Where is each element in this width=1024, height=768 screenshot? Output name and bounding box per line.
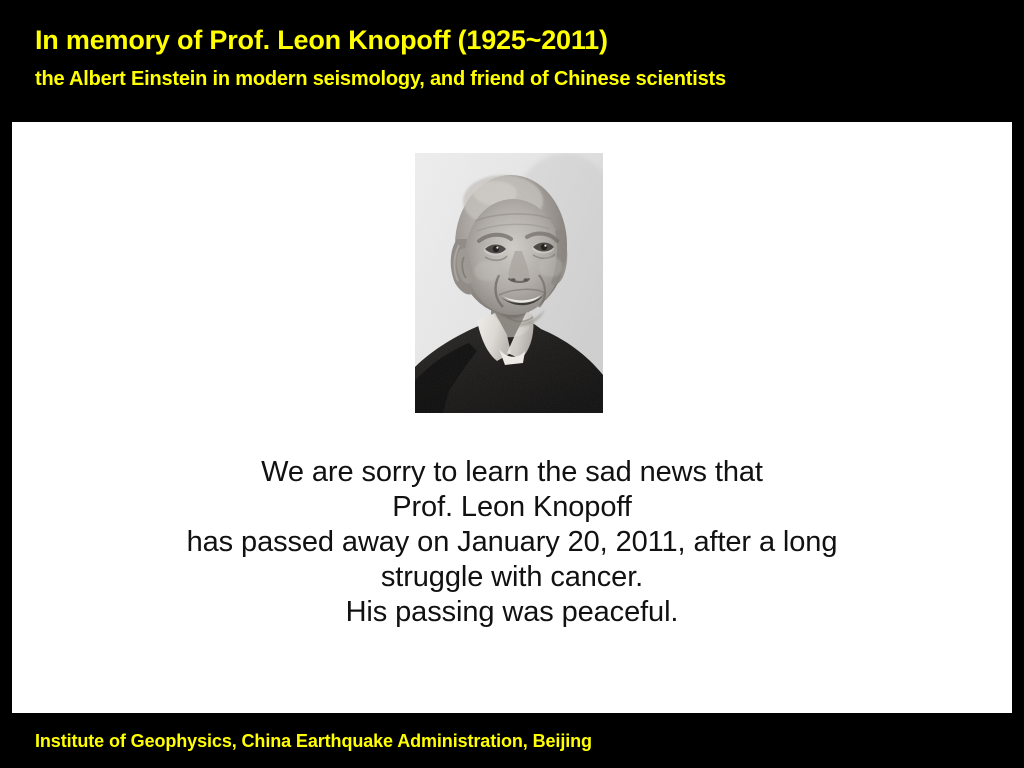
slide-footer: Institute of Geophysics, China Earthquak… [0,713,1024,768]
page-title: In memory of Prof. Leon Knopoff (1925~20… [35,25,608,56]
memorial-message: We are sorry to learn the sad news that … [0,455,1024,630]
affiliation-label: Institute of Geophysics, China Earthquak… [35,730,592,752]
slide-header: In memory of Prof. Leon Knopoff (1925~20… [0,0,1024,122]
portrait-photo [415,153,603,413]
slide-content-panel: We are sorry to learn the sad news that … [12,122,1012,713]
portrait-photo-graphic [415,153,603,413]
presentation-slide: In memory of Prof. Leon Knopoff (1925~20… [0,0,1024,768]
memorial-line: struggle with cancer. [0,560,1024,595]
memorial-line: Prof. Leon Knopoff [0,490,1024,525]
memorial-line: His passing was peaceful. [0,595,1024,630]
memorial-line: has passed away on January 20, 2011, aft… [0,525,1024,560]
memorial-line: We are sorry to learn the sad news that [0,455,1024,490]
page-subtitle: the Albert Einstein in modern seismology… [35,67,726,91]
